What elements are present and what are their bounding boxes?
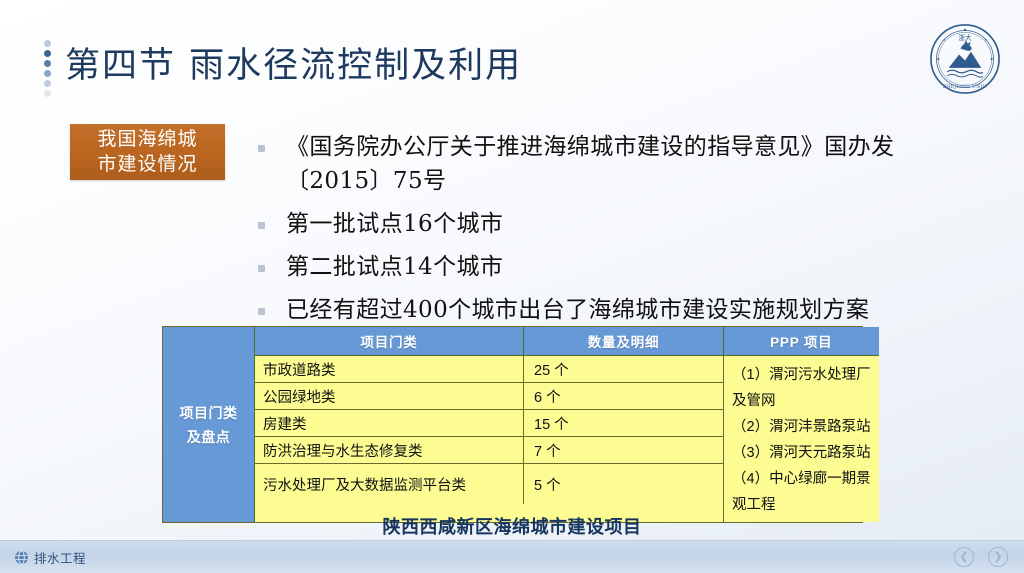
table-row-header-line2: 及盘点 [187, 425, 231, 449]
table-body-left: 市政道路类 25 个 公园绿地类 6 个 房建类 15 个 防洪治理与水生态修复… [255, 356, 724, 522]
project-table: 项目门类 及盘点 项目门类 数量及明细 PPP 项目 市政道路类 25 个 公园… [162, 326, 863, 523]
section-badge-line2: 市建设情况 [97, 152, 197, 177]
table-cell-quantity: 25 个 [524, 356, 723, 382]
table-row: 市政道路类 25 个 [255, 356, 723, 383]
table-cell-category: 公园绿地类 [255, 383, 524, 409]
table-grid: 项目门类 数量及明细 PPP 项目 市政道路类 25 个 公园绿地类 6 个 房… [255, 327, 879, 522]
table-cell-quantity: 6 个 [524, 383, 723, 409]
list-item: 已经有超过400个城市出台了海绵城市建设实施规划方案 [258, 293, 958, 327]
list-item: 《国务院办公厅关于推进海绵城市建设的指导意见》国办发〔2015〕75号 [258, 130, 958, 198]
ppp-item: （3）渭河天元路泵站 [732, 440, 871, 466]
table-cell-quantity: 15 个 [524, 410, 723, 436]
table-column-header-ppp: PPP 项目 [724, 327, 879, 355]
table-row: 公园绿地类 6 个 [255, 383, 723, 410]
zhejiang-university-seal-icon: 浙大 ZHEJIANG UNIV. [928, 22, 1002, 96]
list-item-label: 第一批试点16个城市 [286, 207, 503, 241]
ppp-item: 及管网 [732, 388, 871, 414]
footer-brand: 排水工程 [14, 548, 86, 567]
bullet-marker-icon [258, 145, 265, 152]
list-item-label: 《国务院办公厅关于推进海绵城市建设的指导意见》国办发〔2015〕75号 [286, 130, 958, 198]
bullet-list: 《国务院办公厅关于推进海绵城市建设的指导意见》国办发〔2015〕75号 第一批试… [258, 130, 958, 336]
slide: 第四节 雨水径流控制及利用 浙大 ZHEJIANG UNIV. 我国海绵城 市建… [0, 0, 1024, 573]
dot-decoration-icon [44, 36, 51, 97]
section-badge: 我国海绵城 市建设情况 [70, 124, 225, 180]
ppp-item: （4）中心绿廊一期景 [732, 466, 871, 492]
table-cell-ppp: （1）渭河污水处理厂 及管网 （2）渭河沣景路泵站 （3）渭河天元路泵站 （4）… [724, 356, 879, 522]
table-cell-category: 防洪治理与水生态修复类 [255, 437, 524, 463]
list-item-label: 第二批试点14个城市 [286, 250, 503, 284]
svg-text:ZHEJIANG UNIV.: ZHEJIANG UNIV. [943, 84, 988, 90]
footer-bar: 排水工程 ❮ ❯ [0, 540, 1024, 573]
table-cell-category: 市政道路类 [255, 356, 524, 382]
table-column-header-category: 项目门类 [255, 327, 524, 355]
title-row: 第四节 雨水径流控制及利用 [44, 36, 522, 96]
previous-slide-button[interactable]: ❮ [954, 547, 974, 567]
table-cell-category: 房建类 [255, 410, 524, 436]
globe-icon [14, 550, 29, 565]
list-item: 第一批试点16个城市 [258, 207, 958, 241]
section-badge-line1: 我国海绵城 [97, 127, 197, 152]
svg-text:浙大: 浙大 [958, 33, 972, 42]
ppp-item: （2）渭河沣景路泵站 [732, 414, 871, 440]
bullet-marker-icon [258, 265, 265, 272]
table-caption: 陕西西咸新区海绵城市建设项目 [0, 513, 1024, 539]
table-cell-category: 污水处理厂及大数据监测平台类 [255, 464, 524, 504]
table-row: 污水处理厂及大数据监测平台类 5 个 [255, 464, 723, 504]
table-cell-quantity: 7 个 [524, 437, 723, 463]
slide-navigation: ❮ ❯ [954, 547, 1008, 567]
page-title: 第四节 雨水径流控制及利用 [65, 47, 522, 86]
bullet-marker-icon [258, 222, 265, 229]
table-cell-quantity: 5 个 [524, 464, 723, 504]
table-row: 防洪治理与水生态修复类 7 个 [255, 437, 723, 464]
list-item-label: 已经有超过400个城市出台了海绵城市建设实施规划方案 [286, 293, 869, 327]
table-row-header-line1: 项目门类 [180, 401, 238, 425]
ppp-item: （1）渭河污水处理厂 [732, 362, 871, 388]
table-row-header: 项目门类 及盘点 [163, 327, 255, 522]
table-column-header-quantity: 数量及明细 [524, 327, 724, 355]
table-body: 市政道路类 25 个 公园绿地类 6 个 房建类 15 个 防洪治理与水生态修复… [255, 356, 879, 522]
table-row: 房建类 15 个 [255, 410, 723, 437]
next-slide-button[interactable]: ❯ [988, 547, 1008, 567]
table-header-row: 项目门类 数量及明细 PPP 项目 [255, 327, 879, 356]
list-item: 第二批试点14个城市 [258, 250, 958, 284]
bullet-marker-icon [258, 308, 265, 315]
footer-label: 排水工程 [34, 548, 86, 567]
